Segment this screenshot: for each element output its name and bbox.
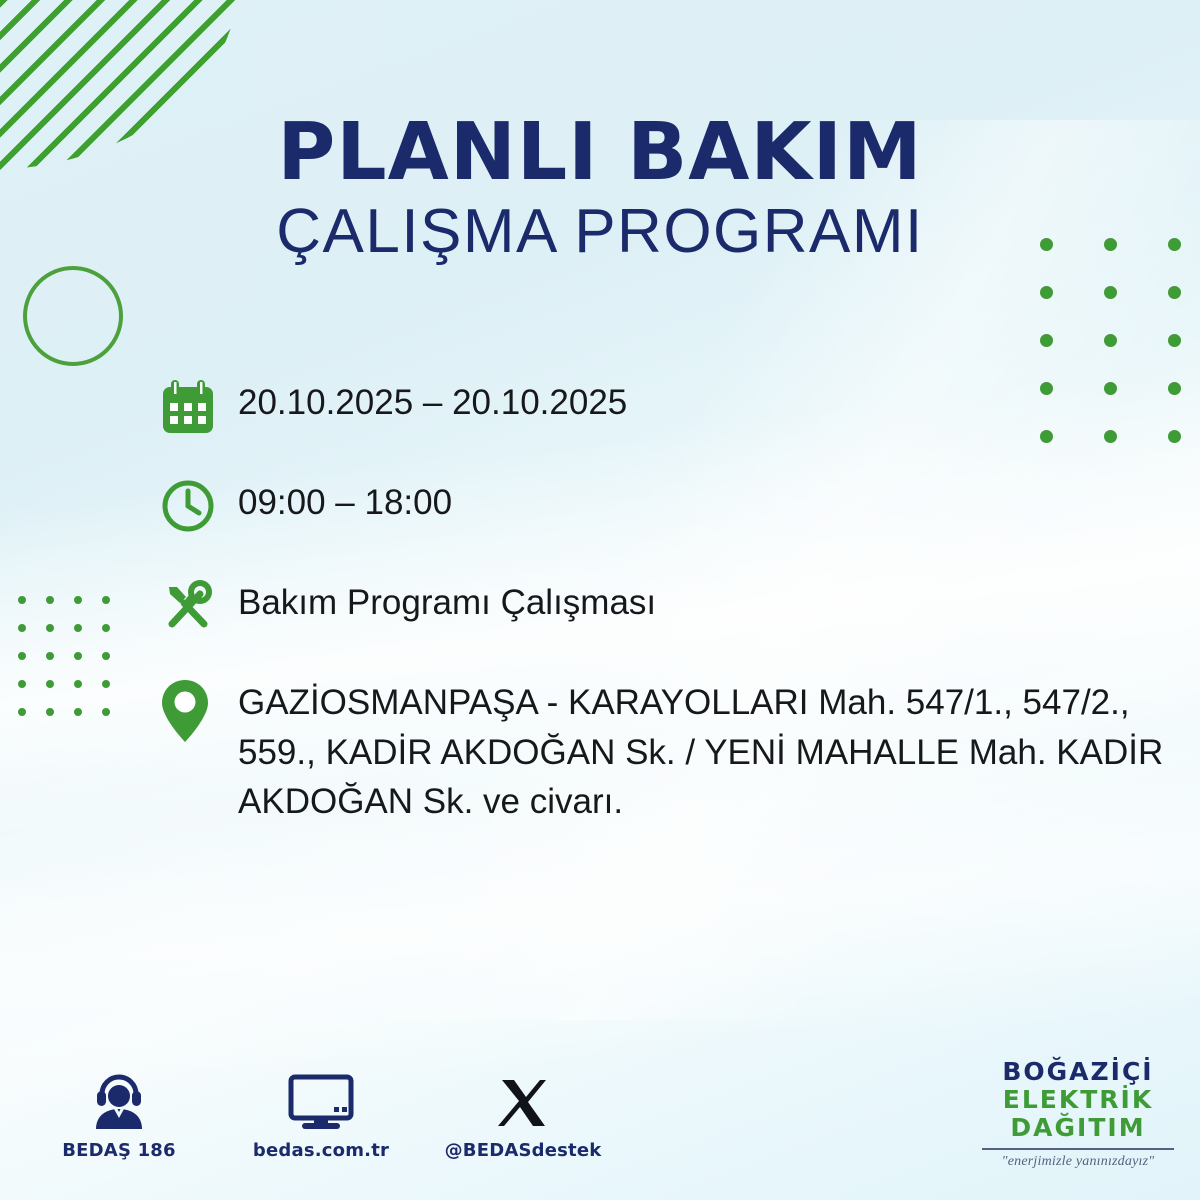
- dot: [18, 624, 26, 632]
- dot: [102, 708, 110, 716]
- tools-icon: [160, 576, 238, 642]
- dot-grid-left-decoration: [18, 596, 130, 736]
- detail-row-location: GAZİOSMANPAŞA - KARAYOLLARI Mah. 547/1.,…: [160, 676, 1170, 827]
- dot: [1040, 238, 1053, 251]
- dot: [1168, 238, 1181, 251]
- monitor-icon: [288, 1070, 354, 1130]
- dot: [46, 708, 54, 716]
- dot: [1168, 286, 1181, 299]
- brand-logo: BOĞAZİÇİ ELEKTRİK DAĞITIM "enerjimizle y…: [978, 1058, 1178, 1170]
- dot: [74, 624, 82, 632]
- dot: [46, 680, 54, 688]
- dot: [18, 680, 26, 688]
- dot: [102, 596, 110, 604]
- dot: [46, 652, 54, 660]
- contact-website[interactable]: bedas.com.tr: [246, 1070, 396, 1161]
- detail-value-date: 20.10.2025 – 20.10.2025: [238, 376, 627, 428]
- page-title: PLANLI BAKIM: [0, 112, 1200, 193]
- poster-heading: PLANLI BAKIM ÇALIŞMA PROGRAMI: [0, 112, 1200, 264]
- dot: [1104, 286, 1117, 299]
- dot: [1040, 286, 1053, 299]
- brand-name-line-1: BOĞAZİÇİ: [978, 1058, 1178, 1086]
- call-center-agent-icon: [88, 1070, 150, 1130]
- dot: [1104, 334, 1117, 347]
- dot: [102, 624, 110, 632]
- page-subtitle: ÇALIŞMA PROGRAMI: [0, 199, 1200, 264]
- location-pin-icon: [160, 676, 238, 742]
- brand-divider: [982, 1148, 1174, 1150]
- dot: [74, 680, 82, 688]
- diagonal-stripes-decoration: [0, 0, 238, 170]
- detail-value-worktype: Bakım Programı Çalışması: [238, 576, 656, 628]
- dot: [46, 624, 54, 632]
- dot: [102, 680, 110, 688]
- planned-maintenance-poster: PLANLI BAKIM ÇALIŞMA PROGRAMI: [0, 0, 1200, 1200]
- dot: [1040, 334, 1053, 347]
- detail-value-location: GAZİOSMANPAŞA - KARAYOLLARI Mah. 547/1.,…: [238, 676, 1168, 827]
- calendar-icon: [160, 376, 238, 442]
- detail-row-time: 09:00 – 18:00: [160, 476, 1170, 542]
- detail-value-time: 09:00 – 18:00: [238, 476, 452, 528]
- dot: [18, 652, 26, 660]
- contact-x-social[interactable]: @BEDASdestek: [448, 1070, 598, 1161]
- detail-row-date: 20.10.2025 – 20.10.2025: [160, 376, 1170, 442]
- contact-label-phone: BEDAŞ 186: [62, 1140, 176, 1161]
- maintenance-details: 20.10.2025 – 20.10.2025 09:00 – 18:00: [160, 376, 1170, 827]
- dot: [1168, 334, 1181, 347]
- dot: [46, 596, 54, 604]
- dot: [74, 708, 82, 716]
- dot: [102, 652, 110, 660]
- contact-channels: BEDAŞ 186 bedas.com.tr @BEDASdestek: [44, 1070, 598, 1161]
- brand-name-line-3: DAĞITIM: [978, 1114, 1178, 1142]
- dot: [74, 652, 82, 660]
- circle-outline-decoration: [23, 266, 123, 366]
- contact-label-website: bedas.com.tr: [253, 1140, 389, 1161]
- detail-row-worktype: Bakım Programı Çalışması: [160, 576, 1170, 642]
- contact-label-x-social: @BEDASdestek: [445, 1140, 602, 1161]
- dot: [74, 596, 82, 604]
- clock-icon: [160, 476, 238, 542]
- brand-name-line-2: ELEKTRİK: [978, 1086, 1178, 1114]
- contact-phone[interactable]: BEDAŞ 186: [44, 1070, 194, 1161]
- dot: [18, 596, 26, 604]
- dot: [18, 708, 26, 716]
- x-logo-icon: [496, 1070, 550, 1130]
- dot: [1104, 238, 1117, 251]
- brand-tagline: "enerjimizle yanınızdayız": [978, 1154, 1178, 1170]
